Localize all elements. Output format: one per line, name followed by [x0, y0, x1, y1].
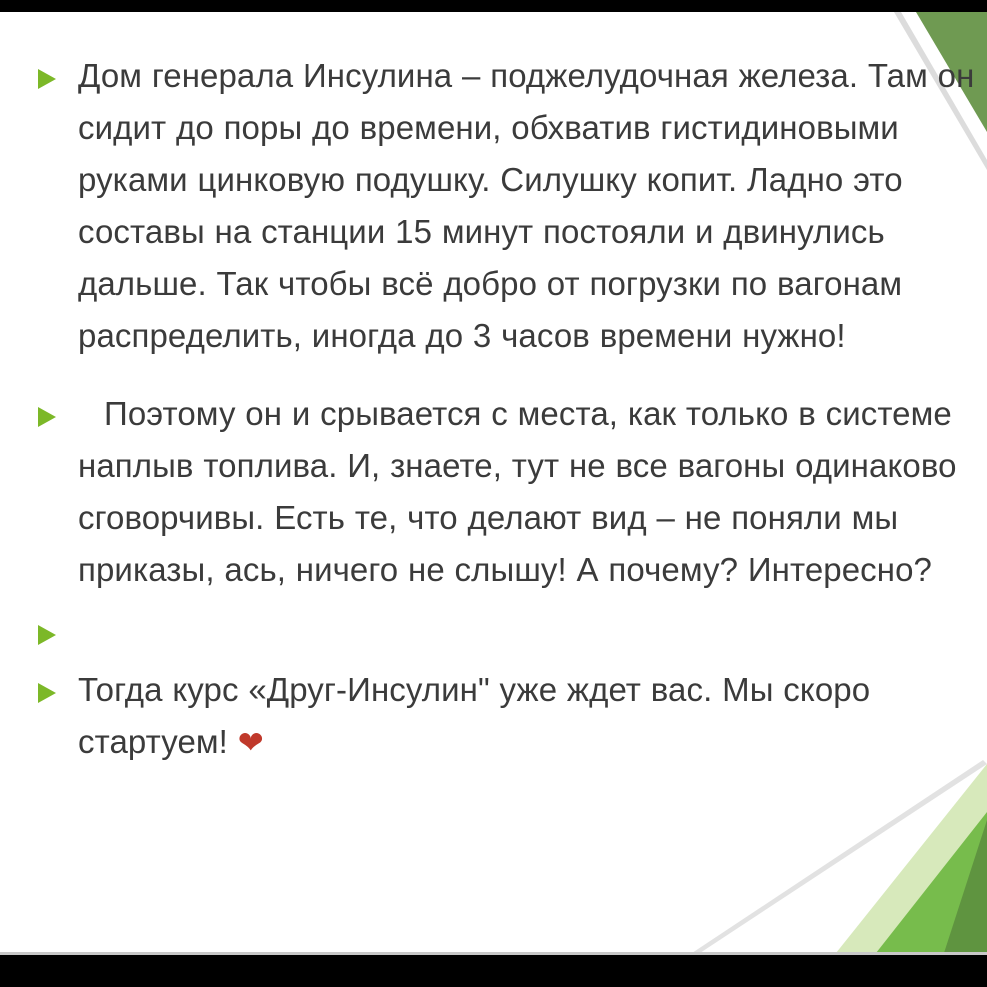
- bullet-item: Тогда курс «Друг-Инсулин" уже ждет вас. …: [34, 664, 979, 769]
- bullet-text: Дом генерала Инсулина – поджелудочная же…: [78, 50, 978, 362]
- bullet-item: Дом генерала Инсулина – поджелудочная же…: [34, 50, 979, 362]
- green-triangle-bullet-icon: [34, 606, 78, 648]
- green-triangle-bullet-icon: [34, 388, 78, 430]
- green-triangle-bullet-icon: [34, 50, 78, 92]
- slide-body: Дом генерала Инсулина – поджелудочная же…: [0, 12, 987, 953]
- bullet-item-empty: [34, 606, 979, 646]
- heart-icon: ❤: [238, 725, 264, 760]
- green-triangle-bullet-icon: [34, 664, 78, 706]
- letterbox-top-bar: [0, 0, 987, 12]
- presentation-slide: Дом генерала Инсулина – поджелудочная же…: [0, 12, 987, 953]
- bullet-text: Поэтому он и срывается с места, как толь…: [78, 388, 978, 596]
- bullet-item: Поэтому он и срывается с места, как толь…: [34, 388, 979, 596]
- bullet-text: Тогда курс «Друг-Инсулин" уже ждет вас. …: [78, 671, 870, 760]
- bullet-text-final: Тогда курс «Друг-Инсулин" уже ждет вас. …: [78, 664, 978, 769]
- letterbox-bottom-bar: [0, 955, 987, 987]
- screenshot-root: Дом генерала Инсулина – поджелудочная же…: [0, 0, 987, 987]
